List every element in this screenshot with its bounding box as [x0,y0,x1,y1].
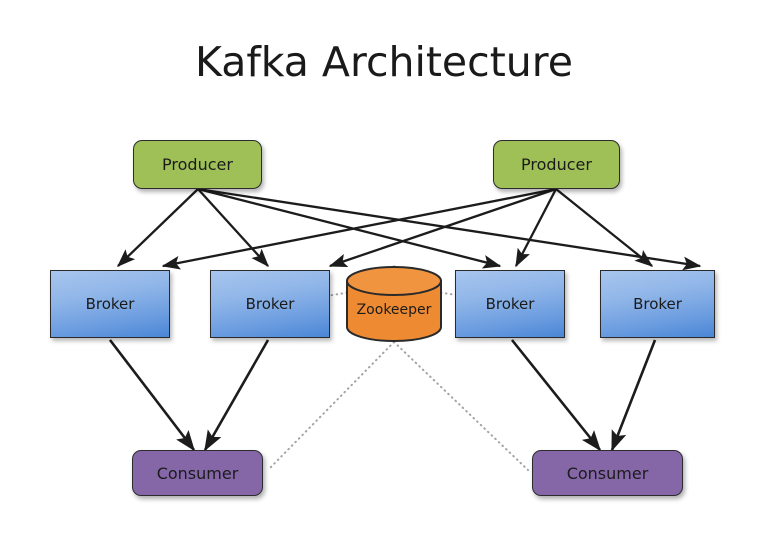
consumer-node-1[interactable]: Consumer [132,450,263,496]
page-title: Kafka Architecture [0,38,768,86]
zookeeper-label: Zookeeper [357,302,432,318]
broker-label-1: Broker [86,295,135,313]
consumer-label-2: Consumer [567,464,649,483]
broker-node-2[interactable]: Broker [210,270,330,338]
zookeeper-node[interactable]: Zookeeper [345,266,443,342]
producer-label-2: Producer [521,155,592,174]
broker-node-1[interactable]: Broker [50,270,170,338]
broker-label-2: Broker [246,295,295,313]
producer-node-1[interactable]: Producer [133,140,262,189]
consumer-node-2[interactable]: Consumer [532,450,683,496]
broker-node-3[interactable]: Broker [455,270,565,338]
producer-label-1: Producer [162,155,233,174]
consumer-label-1: Consumer [157,464,239,483]
producer-node-2[interactable]: Producer [493,140,620,189]
broker-label-3: Broker [486,295,535,313]
broker-label-4: Broker [633,295,682,313]
kafka-architecture-diagram: Kafka Architecture [0,0,768,554]
broker-node-4[interactable]: Broker [600,270,715,338]
